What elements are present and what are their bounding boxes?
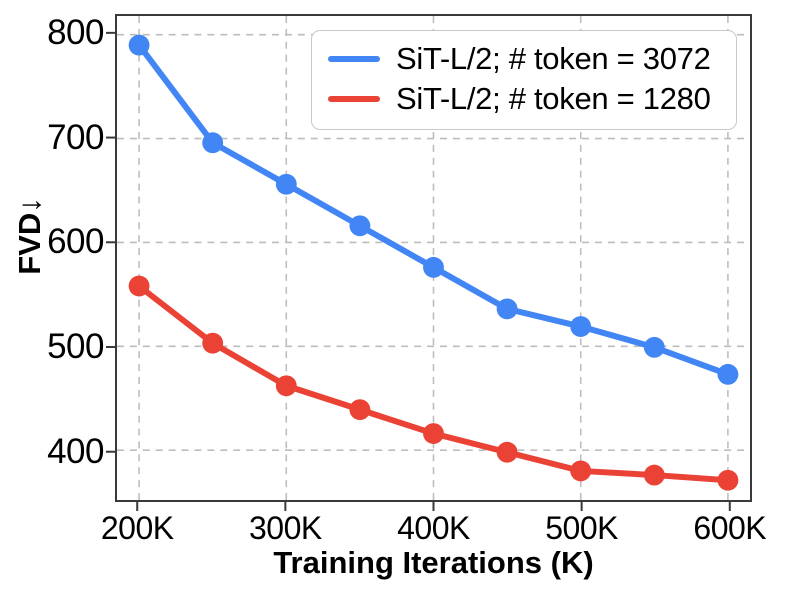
x-tick-label: 600K [693,510,766,547]
data-point-marker [202,132,223,153]
data-point-marker [497,298,518,319]
legend-item-0[interactable]: SiT-L/2; # token = 3072 [328,39,720,79]
y-axis-tick-labels: 800700600500400 [0,0,104,592]
y-tick-label: 400 [47,432,104,472]
data-point-marker [129,35,150,56]
y-axis-title: FVD↓ [12,176,48,296]
data-point-marker [644,465,665,486]
legend-label: SiT-L/2; # token = 3072 [396,41,711,77]
legend-color-swatch [328,96,380,102]
legend-item-1[interactable]: SiT-L/2; # token = 1280 [328,79,720,119]
x-axis-title: Training Iterations (K) [115,545,752,581]
data-point-marker [423,423,444,444]
data-point-marker [570,461,591,482]
data-point-marker [349,215,370,236]
x-tick-label: 200K [101,510,174,547]
y-tick-label: 800 [47,13,104,53]
chart-figure: 800700600500400 FVD↓ 200K300K400K500K600… [0,0,789,592]
y-tick-label: 700 [47,118,104,158]
data-point-marker [129,276,150,297]
y-tick-label: 500 [47,327,104,367]
data-point-marker [202,333,223,354]
x-tick-label: 300K [249,510,322,547]
data-point-marker [717,364,738,385]
data-point-marker [497,442,518,463]
chart-legend[interactable]: SiT-L/2; # token = 3072SiT-L/2; # token … [311,30,737,130]
data-point-marker [644,337,665,358]
legend-label: SiT-L/2; # token = 1280 [396,81,711,117]
series-line-1 [139,286,728,480]
data-point-marker [349,399,370,420]
y-tick-label: 600 [47,222,104,262]
data-point-marker [570,316,591,337]
legend-color-swatch [328,56,380,62]
x-tick-label: 500K [545,510,618,547]
data-point-marker [717,470,738,491]
data-point-marker [276,375,297,396]
data-point-marker [276,174,297,195]
x-tick-label: 400K [397,510,470,547]
data-point-marker [423,257,444,278]
